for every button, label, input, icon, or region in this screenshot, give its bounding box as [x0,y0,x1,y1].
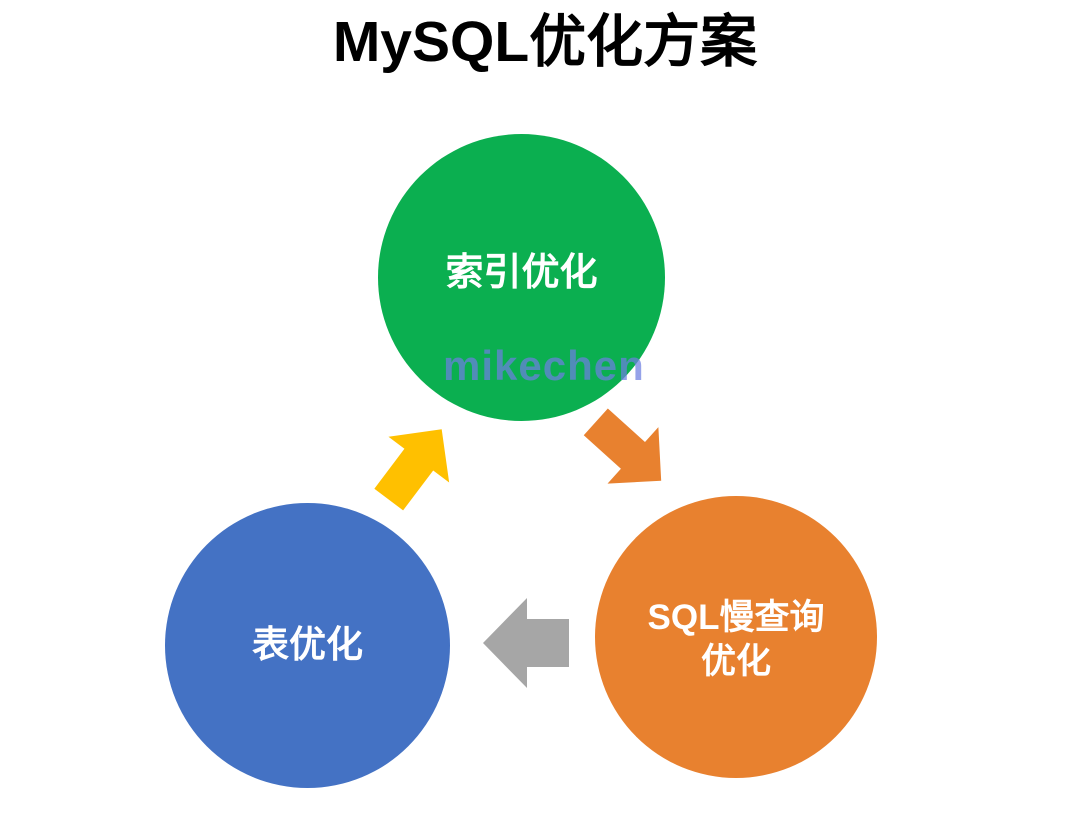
arrow-index-to-slowsql-icon [575,400,679,500]
page-title: MySQL优化方案 [0,13,1090,73]
node-table-optimization-label: 表优化 [252,622,363,668]
node-index-optimization[interactable]: 索引优化 [378,134,665,421]
node-slow-sql-optimization-label: SQL慢查询 优化 [648,596,825,684]
arrow-table-to-index-icon [362,416,466,516]
node-index-optimization-label: 索引优化 [445,250,597,298]
node-table-optimization[interactable]: 表优化 [165,503,450,788]
arrow-slowsql-to-table-icon [481,596,571,690]
diagram-canvas: MySQL优化方案 索引优化 mikechen SQL慢查询 优化 表优化 [0,0,1090,815]
node-slow-sql-optimization[interactable]: SQL慢查询 优化 [595,496,877,778]
